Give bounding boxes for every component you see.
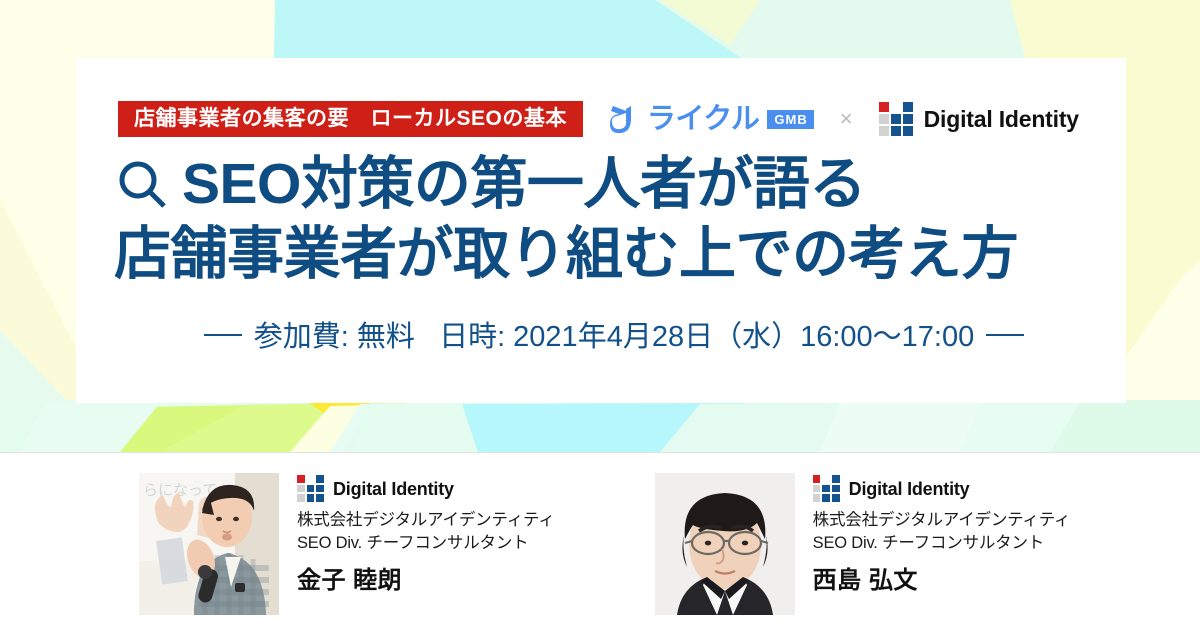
logo-cell	[813, 475, 821, 483]
title-line-1: SEO対策の第一人者が語る	[114, 150, 1114, 220]
logo-cell	[307, 475, 315, 483]
logo-cell	[297, 475, 305, 483]
brand-cluster: ライクル GMB × Di	[609, 102, 1079, 136]
logo-cell	[316, 494, 324, 502]
logo-cell	[822, 485, 830, 493]
speaker-role: SEO Div. チーフコンサルタント	[813, 532, 1071, 555]
speaker-portrait-image	[655, 473, 795, 615]
speaker-company-logo: Digital Identity	[813, 475, 1071, 502]
speaker-card: Digital Identity 株式会社デジタルアイデンティティ SEO Di…	[655, 452, 1071, 630]
logo-cell	[832, 485, 840, 493]
webinar-banner: 店舗事業者の集客の要 ローカルSEOの基本 ライクル GMB ×	[0, 0, 1200, 630]
title-line-2: 店舗事業者が取り組む上での考え方	[114, 220, 1114, 290]
logo-cell	[316, 485, 324, 493]
digital-identity-grid-icon	[813, 475, 840, 502]
ribbon-label: 店舗事業者の集客の要 ローカルSEOの基本	[118, 101, 583, 137]
rule-left	[204, 334, 242, 336]
magnifier-icon	[114, 156, 172, 214]
logo-cell	[297, 494, 305, 502]
logo-cell	[822, 475, 830, 483]
section-divider	[0, 452, 1200, 453]
speaker-company-logo-text: Digital Identity	[849, 480, 970, 498]
raikuru-logo-text: ライクル	[647, 105, 760, 134]
speaker-company-logo-text: Digital Identity	[333, 480, 454, 498]
logo-cell	[879, 114, 889, 124]
logo-cell	[891, 114, 901, 124]
speaker-name: 西島 弘文	[813, 560, 1071, 595]
cross-separator-icon: ×	[840, 108, 853, 130]
digital-identity-grid-icon	[879, 102, 913, 136]
hero-card: 店舗事業者の集客の要 ローカルSEOの基本 ライクル GMB ×	[76, 58, 1126, 403]
logo-cell	[307, 485, 315, 493]
speaker-info: Digital Identity 株式会社デジタルアイデンティティ SEO Di…	[297, 475, 555, 595]
title-text-2: 店舗事業者が取り組む上での考え方	[114, 220, 1018, 290]
digital-identity-grid-icon	[297, 475, 324, 502]
logo-cell	[307, 494, 315, 502]
speaker-role: SEO Div. チーフコンサルタント	[297, 532, 555, 555]
logo-cell	[903, 114, 913, 124]
logo-cell	[879, 102, 889, 112]
gmb-badge: GMB	[767, 110, 813, 129]
speaker-company-logo: Digital Identity	[297, 475, 555, 502]
logo-cell	[832, 475, 840, 483]
logo-cell	[891, 126, 901, 136]
logo-cell	[903, 126, 913, 136]
speaker-photo-kaneko: らになって、	[139, 473, 279, 615]
event-details: 参加費: 無料 日時: 2021年4月28日（水）16:00〜17:00	[114, 313, 1114, 355]
logo-cell	[813, 494, 821, 502]
fee-label: 参加費: 無料	[254, 321, 415, 353]
digital-identity-logo-text: Digital Identity	[924, 108, 1079, 131]
rule-right	[986, 334, 1024, 336]
title-text-1: SEO対策の第一人者が語る	[182, 150, 866, 220]
raikuru-logo: ライクル GMB	[609, 103, 814, 135]
speaker-portrait-image: らになって、	[139, 473, 279, 615]
speaker-info: Digital Identity 株式会社デジタルアイデンティティ SEO Di…	[813, 475, 1071, 595]
raikuru-mark-icon	[609, 103, 643, 135]
logo-cell	[316, 475, 324, 483]
badge-row: 店舗事業者の集客の要 ローカルSEOの基本 ライクル GMB ×	[118, 98, 1088, 140]
logo-cell	[822, 494, 830, 502]
speakers-section: らになって、	[0, 452, 1200, 630]
speaker-name: 金子 睦朗	[297, 560, 555, 595]
speaker-company: 株式会社デジタルアイデンティティ	[297, 509, 555, 532]
logo-cell	[832, 494, 840, 502]
logo-cell	[297, 485, 305, 493]
logo-cell	[891, 102, 901, 112]
logo-cell	[813, 485, 821, 493]
speaker-card: らになって、	[139, 452, 555, 630]
digital-identity-logo: Digital Identity	[879, 102, 1079, 136]
logo-cell	[879, 126, 889, 136]
logo-cell	[903, 102, 913, 112]
datetime-label: 日時: 2021年4月28日（水）16:00〜17:00	[439, 321, 974, 353]
page-title: SEO対策の第一人者が語る 店舗事業者が取り組む上での考え方	[114, 150, 1114, 289]
speaker-photo-nishijima	[655, 473, 795, 615]
speaker-company: 株式会社デジタルアイデンティティ	[813, 509, 1071, 532]
